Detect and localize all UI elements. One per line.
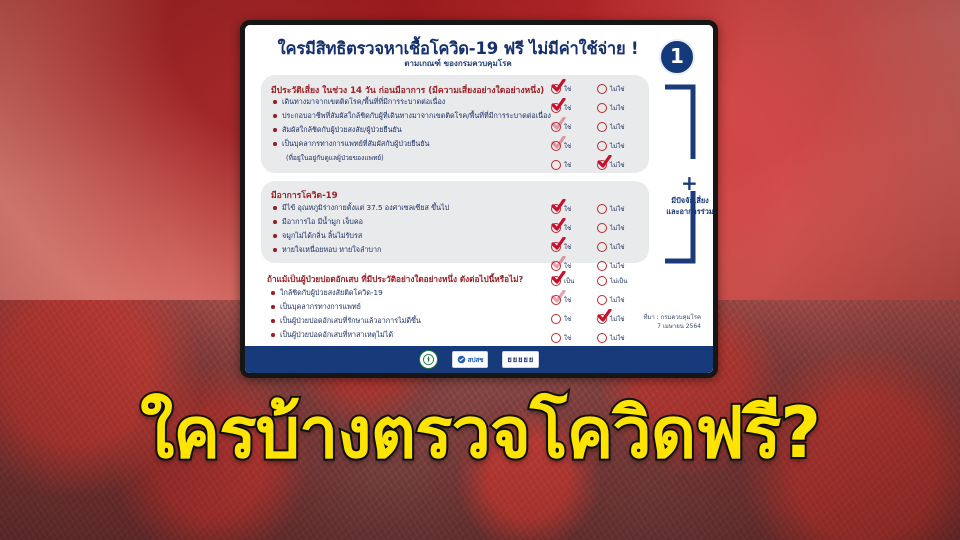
- option-yes[interactable]: ใช่: [551, 242, 597, 252]
- option-label: ไม่ใช่: [610, 333, 624, 343]
- option-label: ใช่: [564, 141, 571, 151]
- option-no[interactable]: ไม่ใช่: [597, 160, 643, 170]
- poster-subtitle: ตามเกณฑ์ ของกรมควบคุมโรค: [259, 57, 657, 70]
- choice-row[interactable]: ใช่ไม่ใช่: [551, 79, 643, 98]
- radio-circle[interactable]: [597, 295, 607, 305]
- option-no[interactable]: ไม่ใช่: [597, 103, 643, 113]
- radio-circle[interactable]: [551, 204, 561, 214]
- option-no[interactable]: ไม่ใช่: [597, 141, 643, 151]
- section-heading-symptoms: มีอาการโควิด-19: [271, 188, 338, 202]
- option-label: ใช่: [564, 223, 571, 233]
- list-item: เป็นผู้ป่วยปอดอักเสบที่หาสาเหตุไม่ได้: [269, 328, 421, 342]
- list-item: มีอาการไอ มีน้ำมูก เจ็บคอ: [271, 215, 449, 229]
- option-label: เป็น: [564, 276, 574, 286]
- option-no[interactable]: ไม่ใช่: [597, 295, 643, 305]
- nhso-mark-icon: [457, 355, 466, 364]
- ministry-of-public-health-logo: [419, 350, 438, 369]
- poster-content: ใครมีสิทธิตรวจหาเชื้อโควิด-19 ฟรี ไม่มีค…: [245, 25, 713, 373]
- risk-bullet-list: เดินทางมาจากเขตติดโรค/พื้นที่ที่มีการระบ…: [271, 95, 551, 165]
- choice-row[interactable]: ใช่ไม่ใช่: [551, 237, 643, 256]
- option-no[interactable]: ไม่ใช่: [597, 333, 643, 343]
- option-label: ใช่: [564, 103, 571, 113]
- option-label: ไม่ใช่: [610, 84, 624, 94]
- radio-circle[interactable]: [551, 314, 561, 324]
- list-item: มีไข้ อุณหภูมิร่างกายตั้งแต่ 37.5 องศาเซ…: [271, 201, 449, 215]
- source-date: 7 เมษายน 2564: [657, 323, 701, 330]
- option-no[interactable]: ไม่เป็น: [597, 276, 643, 286]
- radio-circle[interactable]: [551, 84, 561, 94]
- choice-row[interactable]: ใช่ไม่ใช่: [551, 155, 643, 174]
- radio-circle[interactable]: [597, 242, 607, 252]
- option-label: ไม่ใช่: [610, 242, 624, 252]
- list-item: เป็นบุคลากรทางการแพทย์ที่สัมผัสกับผู้ป่ว…: [271, 137, 551, 151]
- radio-circle[interactable]: [551, 333, 561, 343]
- radio-circle[interactable]: [597, 333, 607, 343]
- infographic-poster-card: ใครมีสิทธิตรวจหาเชื้อโควิด-19 ฟรี ไม่มีค…: [240, 20, 718, 378]
- option-label: ไม่ใช่: [610, 103, 624, 113]
- choice-row[interactable]: ใช่ไม่ใช่: [551, 199, 643, 218]
- radio-circle[interactable]: [597, 122, 607, 132]
- option-label: ใช่: [564, 333, 571, 343]
- radio-circle[interactable]: [551, 122, 561, 132]
- radio-circle[interactable]: [551, 141, 561, 151]
- option-yes[interactable]: เป็น: [551, 276, 597, 286]
- radio-circle[interactable]: [597, 314, 607, 324]
- option-yes[interactable]: ใช่: [551, 295, 597, 305]
- risk-choice-column[interactable]: ใช่ไม่ใช่ใช่ไม่ใช่ใช่ไม่ใช่ใช่ไม่ใช่ใช่ไ…: [551, 79, 643, 174]
- option-label: ใช่: [564, 295, 571, 305]
- section-heading-pneumonia: ถ้าแม้เป็นผู้ป่วยปอดอักเสบ ที่มีประวัติอ…: [267, 273, 523, 286]
- radio-circle[interactable]: [551, 261, 561, 271]
- option-no[interactable]: ไม่ใช่: [597, 84, 643, 94]
- option-label: ใช่: [564, 314, 571, 324]
- option-label: ใช่: [564, 84, 571, 94]
- choice-row[interactable]: เป็นไม่เป็น: [551, 271, 643, 290]
- option-yes[interactable]: ใช่: [551, 84, 597, 94]
- nhso-logo-text: สปสช: [468, 355, 484, 365]
- symptoms-choice-column[interactable]: ใช่ไม่ใช่ใช่ไม่ใช่ใช่ไม่ใช่ใช่ไม่ใช่: [551, 199, 643, 275]
- caduceus-icon: [423, 354, 434, 365]
- symptom-bullet-list: มีไข้ อุณหภูมิร่างกายตั้งแต่ 37.5 องศาเซ…: [271, 201, 449, 257]
- radio-circle[interactable]: [597, 261, 607, 271]
- choice-row[interactable]: ใช่ไม่ใช่: [551, 328, 643, 347]
- option-label: ใช่: [564, 160, 571, 170]
- step-number-badge: 1: [659, 39, 695, 75]
- radio-circle[interactable]: [597, 84, 607, 94]
- radio-circle[interactable]: [597, 276, 607, 286]
- option-yes[interactable]: ใช่: [551, 141, 597, 151]
- option-label: ไม่เป็น: [610, 276, 627, 286]
- list-item: สัมผัสใกล้ชิดกับผู้ป่วยสงสัย/ผู้ป่วยยืนย…: [271, 123, 551, 137]
- option-no[interactable]: ไม่ใช่: [597, 242, 643, 252]
- bracket-note-line2: และอาการร่วม: [666, 207, 713, 216]
- list-item: เดินทางมาจากเขตติดโรค/พื้นที่ที่มีการระบ…: [271, 95, 551, 109]
- radio-circle[interactable]: [551, 295, 561, 305]
- option-label: ใช่: [564, 122, 571, 132]
- option-label: ใช่: [564, 242, 571, 252]
- list-item: หายใจเหนื่อยหอบ หายใจลำบาก: [271, 243, 449, 257]
- radio-circle[interactable]: [551, 103, 561, 113]
- choice-row[interactable]: ใช่ไม่ใช่: [551, 309, 643, 328]
- radio-circle[interactable]: [597, 141, 607, 151]
- option-label: ไม่ใช่: [610, 141, 624, 151]
- list-item: ประกอบอาชีพที่สัมผัสใกล้ชิดกับผู้ที่เดิน…: [271, 109, 551, 123]
- source-attribution: ที่มา : กรมควบคุมโรค 7 เมษายน 2564: [643, 313, 701, 331]
- option-yes[interactable]: ใช่: [551, 261, 597, 271]
- option-label: ไม่ใช่: [610, 261, 624, 271]
- choice-row[interactable]: ใช่ไม่ใช่: [551, 117, 643, 136]
- option-yes[interactable]: ใช่: [551, 223, 597, 233]
- radio-circle[interactable]: [597, 204, 607, 214]
- list-item: ใกล้ชิดกับผู้ป่วยสงสัยติดโควิด-19: [269, 286, 421, 300]
- bracket-note: มีปัจจัยเสี่ยง และอาการร่วม: [659, 195, 718, 217]
- choice-row[interactable]: ใช่ไม่ใช่: [551, 290, 643, 309]
- list-item: เป็นผู้ป่วยปอดอักเสบที่รักษาแล้วอาการไม่…: [269, 314, 421, 328]
- option-label: ใช่: [564, 204, 571, 214]
- radio-circle[interactable]: [597, 160, 607, 170]
- option-label: ไม่ใช่: [610, 160, 624, 170]
- page-headline: ใครบ้างตรวจโควิดฟรี?: [0, 398, 960, 468]
- radio-circle[interactable]: [551, 242, 561, 252]
- radio-circle[interactable]: [551, 223, 561, 233]
- plus-symbol: +: [681, 171, 698, 195]
- choice-row[interactable]: ใช่ไม่ใช่: [551, 218, 643, 237]
- option-label: ไม่ใช่: [610, 122, 624, 132]
- option-label: ไม่ใช่: [610, 314, 624, 324]
- radio-circle[interactable]: [597, 103, 607, 113]
- option-yes[interactable]: ใช่: [551, 103, 597, 113]
- option-yes[interactable]: ใช่: [551, 204, 597, 214]
- option-no[interactable]: ไม่ใช่: [597, 122, 643, 132]
- poster-footer-bar: สปสช ยยยยย: [245, 346, 713, 373]
- option-yes[interactable]: ใช่: [551, 122, 597, 132]
- bracket-note-line1: มีปัจจัยเสี่ยง: [671, 196, 709, 205]
- option-no[interactable]: ไม่ใช่: [597, 261, 643, 271]
- nhso-logo: สปสช: [452, 351, 489, 368]
- radio-circle[interactable]: [597, 223, 607, 233]
- choice-row[interactable]: ใช่ไม่ใช่: [551, 136, 643, 155]
- radio-circle[interactable]: [551, 276, 561, 286]
- option-yes[interactable]: ใช่: [551, 314, 597, 324]
- option-no[interactable]: ไม่ใช่: [597, 223, 643, 233]
- source-label: ที่มา : กรมควบคุมโรค: [643, 314, 701, 321]
- choice-row[interactable]: ใช่ไม่ใช่: [551, 98, 643, 117]
- option-yes[interactable]: ใช่: [551, 160, 597, 170]
- option-yes[interactable]: ใช่: [551, 333, 597, 343]
- thaihealth-logo-text: ยยยยย: [507, 354, 534, 366]
- radio-circle[interactable]: [551, 160, 561, 170]
- list-item: จมูกไม่ได้กลิ่น ลิ้นไม่รับรส: [271, 229, 449, 243]
- option-no[interactable]: ไม่ใช่: [597, 314, 643, 324]
- option-label: ไม่ใช่: [610, 223, 624, 233]
- option-no[interactable]: ไม่ใช่: [597, 204, 643, 214]
- pneumonia-bullet-list: ใกล้ชิดกับผู้ป่วยสงสัยติดโควิด-19 เป็นบุ…: [269, 286, 421, 342]
- list-item: เป็นบุคลากรทางการแพทย์: [269, 300, 421, 314]
- option-label: ใช่: [564, 261, 571, 271]
- thaihealth-logo: ยยยยย: [502, 351, 539, 368]
- option-label: ไม่ใช่: [610, 295, 624, 305]
- option-label: ไม่ใช่: [610, 204, 624, 214]
- list-item-note: (ที่อยู่ในอยู่กับดูแลผู้ป่วยของแพทย์): [271, 151, 551, 165]
